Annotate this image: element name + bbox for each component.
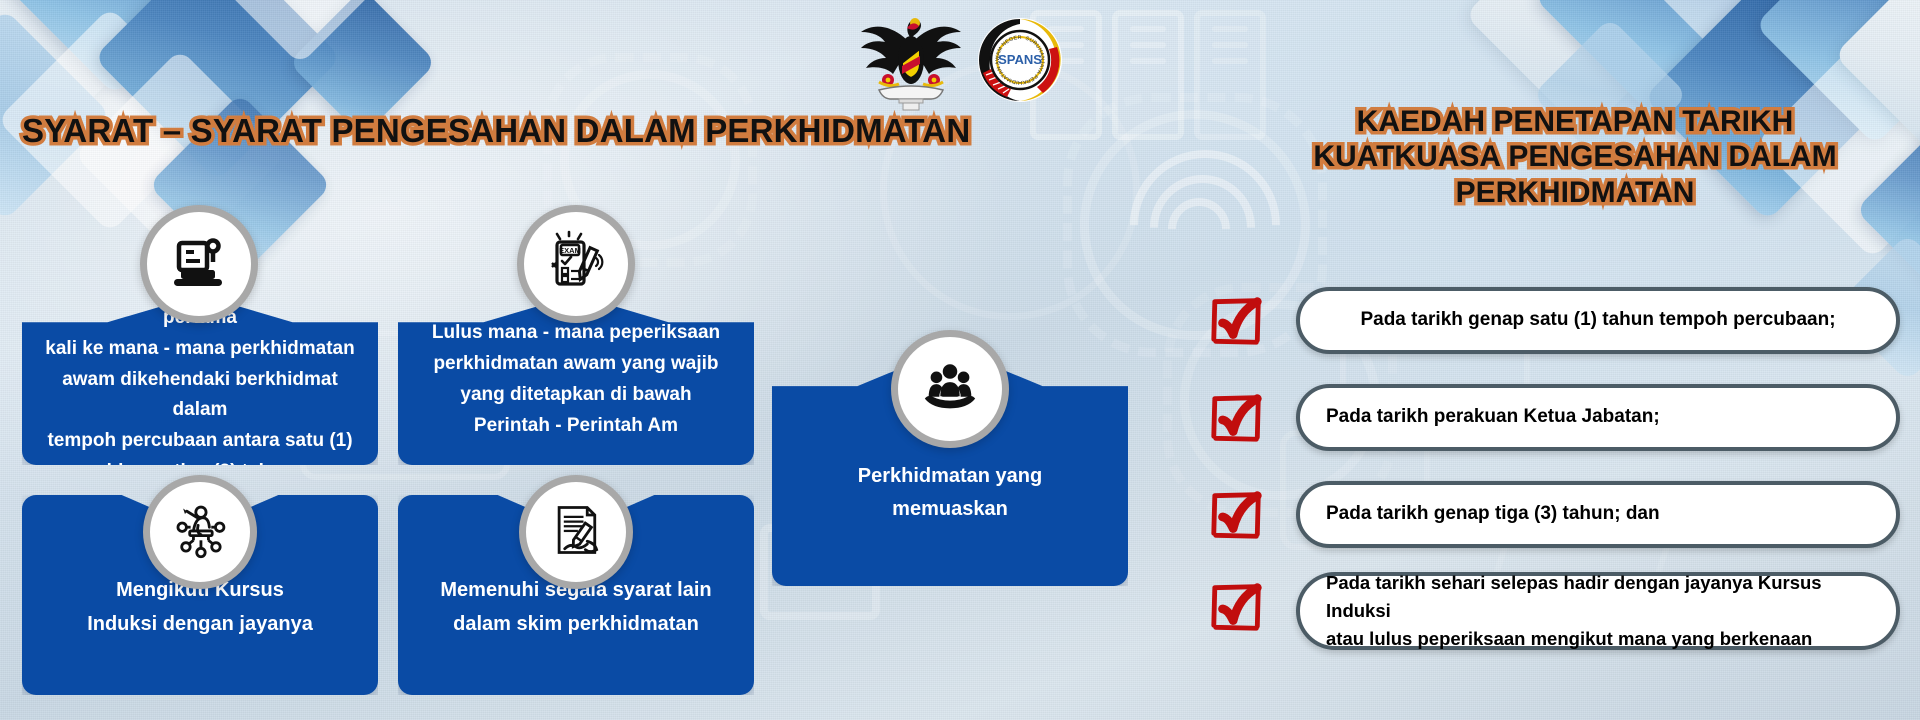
bg-diamond-tr-3 [1629,0,1841,71]
card3-icon-bubble [891,330,1009,448]
bg-diamond-tl-5 [94,0,341,181]
card5-icon-bubble [519,475,633,589]
card2-icon-bubble: EXAM [517,205,635,323]
card4-icon-bubble [143,475,257,589]
signing-document-icon [546,500,606,565]
left-panel-title: SYARAT – SYARAT PENGESAHAN DALAM PERKHID… [22,112,970,150]
checklist-pill-2[interactable]: Pada tarikh perakuan Ketua Jabatan; [1296,384,1900,451]
card4-line-2: Induksi dengan jayanya [87,607,313,641]
card2-line-1: Lulus mana - mana peperiksaan [432,318,720,349]
card1-line-3: awam dikehendaki berkhidmat dalam [36,365,364,427]
card2-line-4: Perintah - Perintah Am [432,411,720,442]
checklist-2-line-1: Pada tarikh perakuan Ketua Jabatan; [1326,403,1870,432]
red-check-box-icon-4[interactable] [1208,578,1266,636]
red-check-box-icon-1[interactable] [1208,292,1266,350]
training-presentation-icon [170,500,230,565]
card3-line-1: Perkhidmatan yang [858,460,1043,493]
checklist-4-line-1: Pada tarikh sehari selepas hadir dengan … [1326,569,1870,625]
spans-logo-text: SPANS [998,52,1042,67]
svg-text:EXAM: EXAM [559,246,581,255]
checklist-pill-3[interactable]: Pada tarikh genap tiga (3) tahun; dan [1296,481,1900,548]
checklist-1-line-1: Pada tarikh genap satu (1) tahun tempoh … [1326,306,1870,335]
card1-line-2: kali ke mana - mana perkhidmatan [36,334,364,365]
red-check-box-icon-2[interactable] [1208,389,1266,447]
card2-line-3: yang ditetapkan di bawah [432,380,720,411]
checklist-pill-4[interactable]: Pada tarikh sehari selepas hadir dengan … [1296,572,1900,650]
exam-checklist-pencil-icon: EXAM [544,230,608,299]
right-title-line-1: KAEDAH PENETAPAN TARIKH [1230,104,1920,139]
right-panel-title: KAEDAH PENETAPAN TARIKH KUATKUASA PENGES… [1230,104,1920,210]
card1-icon-bubble [140,205,258,323]
right-title-line-3: PERKHIDMATAN [1230,175,1920,210]
logo-group: SURUHANJAYA PERKHIDMATAN AWAM NEGERI SAR… [855,6,1065,114]
spans-logo-icon: SURUHANJAYA PERKHIDMATAN AWAM NEGERI SAR… [977,17,1063,103]
bg-diamond-tl-9 [215,0,385,65]
card3-line-2: memuaskan [858,493,1043,526]
right-title-line-2: KUATKUASA PENGESAHAN DALAM [1230,139,1920,174]
card2-line-2: perkhidmatan awam yang wajib [432,349,720,380]
checklist-3-line-1: Pada tarikh genap tiga (3) tahun; dan [1326,500,1870,529]
checklist-pill-1[interactable]: Pada tarikh genap satu (1) tahun tempoh … [1296,287,1900,354]
red-check-box-icon-3[interactable] [1208,486,1266,544]
people-in-hands-icon [919,356,981,423]
certificate-stamp-icon [167,230,231,299]
card1-line-4: tempoh percubaan antara satu (1) [36,426,364,457]
document-watermark-2 [1112,10,1184,140]
bg-diamond-tl-2 [0,0,235,95]
infographic-canvas: SURUHANJAYA PERKHIDMATAN AWAM NEGERI SAR… [0,0,1920,720]
checklist-4-line-2: atau lulus peperiksaan mengikut mana yan… [1326,625,1870,653]
card5-line-2: dalam skim perkhidmatan [440,607,711,641]
sarawak-coat-of-arms-icon [855,8,967,112]
